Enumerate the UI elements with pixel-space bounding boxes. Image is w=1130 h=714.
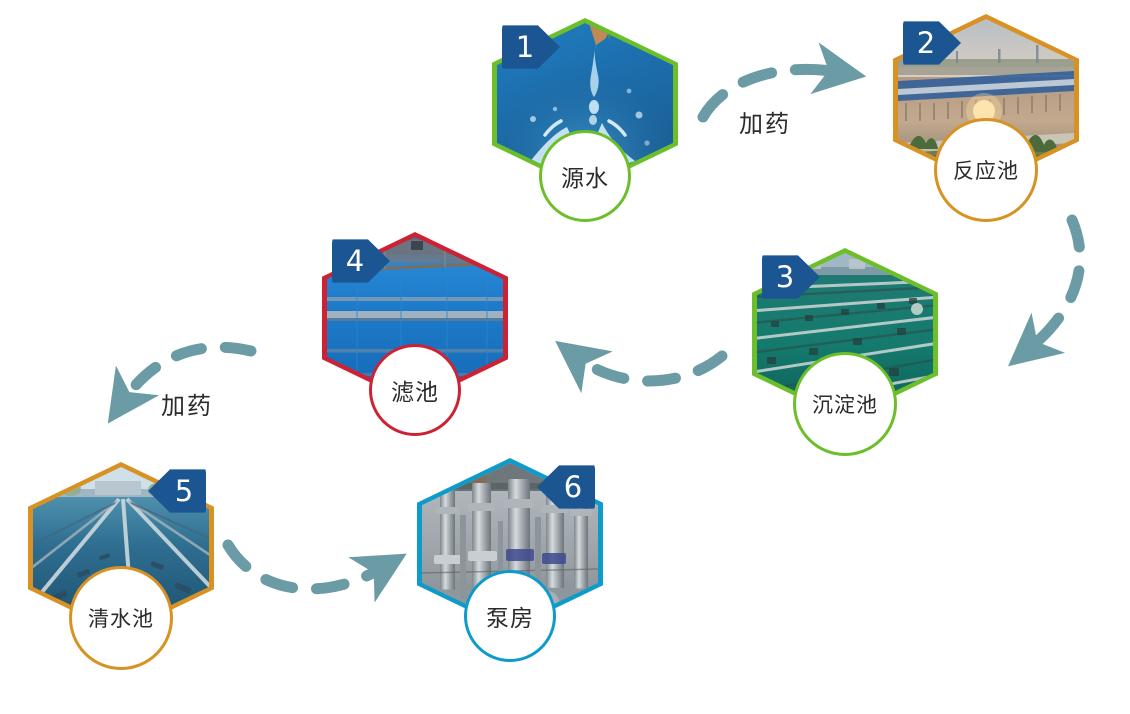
step-label-circle-4: 滤池 — [369, 344, 461, 436]
process-step-3[interactable]: 3 沉淀池 — [752, 248, 938, 454]
process-step-6[interactable]: 6 泵房 — [417, 458, 603, 664]
step-label-circle-3: 沉淀池 — [793, 352, 897, 456]
step-number-5: 5 — [175, 477, 193, 506]
step-label-circle-6: 泵房 — [464, 570, 556, 662]
step-number-6: 6 — [564, 473, 582, 502]
step-number-3: 3 — [776, 263, 794, 292]
process-step-1[interactable]: 1 源水 — [492, 18, 678, 224]
step-label-circle-5: 清水池 — [69, 566, 173, 670]
step-label-4: 滤池 — [391, 373, 439, 407]
step-label-1: 源水 — [561, 159, 609, 193]
arrow-step5-to-step6 — [228, 545, 382, 589]
step-label-3: 沉淀池 — [812, 389, 878, 419]
process-step-5[interactable]: 5 清水池 — [28, 462, 214, 668]
step-number-2: 2 — [917, 29, 935, 58]
step-label-circle-2: 反应池 — [934, 118, 1038, 222]
process-step-2[interactable]: 2 反应池 — [893, 14, 1079, 220]
connector-label-dosing-1: 加药 — [739, 104, 791, 139]
step-number-1: 1 — [516, 33, 534, 62]
step-number-4: 4 — [346, 247, 364, 276]
step-label-5: 清水池 — [88, 603, 154, 633]
arrow-step2-to-step3 — [1030, 220, 1080, 348]
step-label-6: 泵房 — [486, 599, 534, 633]
process-flow-diagram: 加药 加药 — [0, 0, 1130, 714]
process-step-4[interactable]: 4 滤池 — [322, 232, 508, 438]
step-label-2: 反应池 — [953, 155, 1019, 185]
step-label-circle-1: 源水 — [539, 130, 631, 222]
connector-label-dosing-2: 加药 — [161, 386, 213, 421]
arrow-step3-to-step4 — [578, 356, 722, 381]
